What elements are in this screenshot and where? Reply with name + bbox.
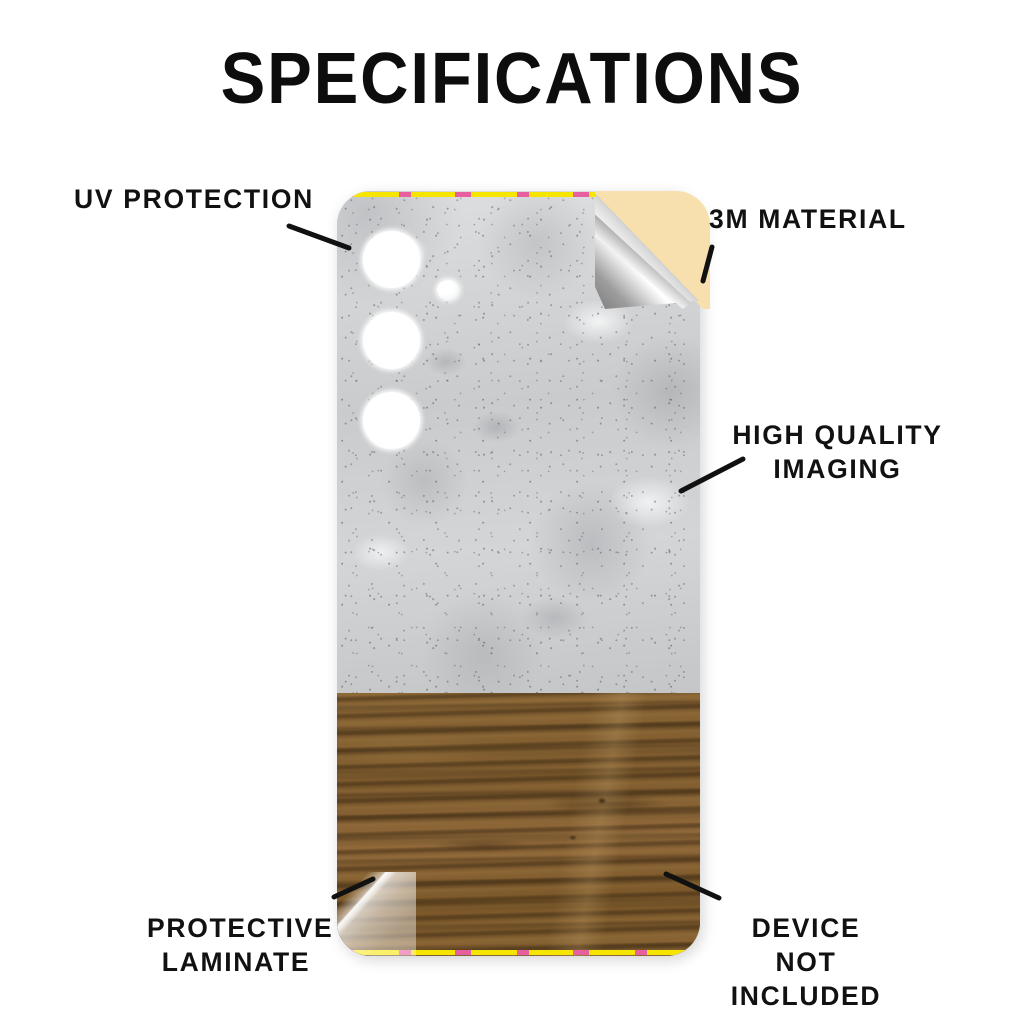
camera-cutout-1 [363, 231, 420, 288]
laminate-lifting-edge [337, 872, 416, 956]
camera-cutout-3 [363, 392, 420, 449]
page-title: SPECIFICATIONS [36, 42, 988, 118]
callout-3m-material: 3M MATERIAL [709, 203, 907, 237]
specifications-infographic: SPECIFICATIONS [0, 0, 1024, 1024]
callout-uv-protection: UV PROTECTION [74, 183, 314, 217]
camera-cutout-2 [363, 312, 420, 369]
protective-laminate-overlay [337, 872, 416, 956]
peel-corner-graphic [595, 191, 715, 309]
callout-protective-laminate: PROTECTIVE LAMINATE [147, 912, 325, 980]
callout-device-not-included: DEVICE NOT INCLUDED [717, 912, 895, 1014]
callout-high-quality-imaging: HIGH QUALITY IMAGING [730, 419, 945, 487]
flash-cutout [437, 280, 459, 300]
